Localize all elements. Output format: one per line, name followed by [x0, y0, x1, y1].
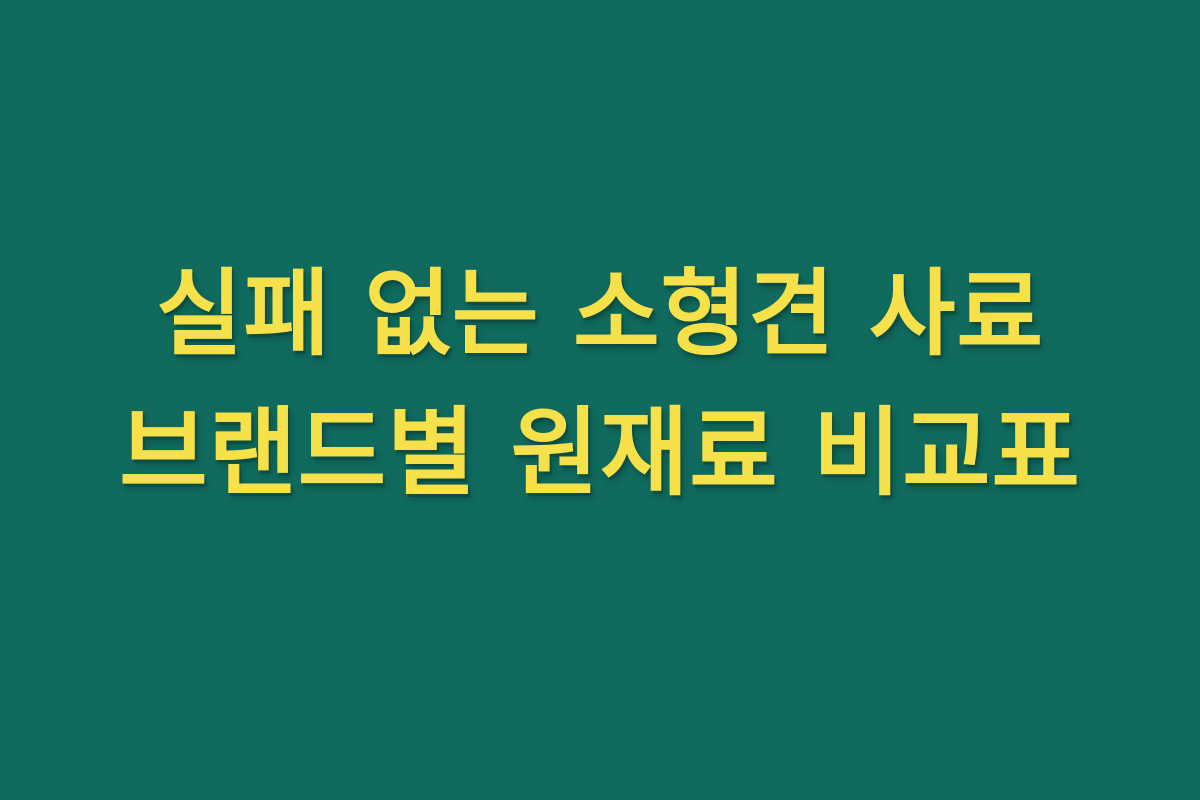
- thumbnail-banner: 실패 없는 소형견 사료 브랜드별 원재료 비교표: [0, 0, 1200, 800]
- headline-line-1: 실패 없는 소형견 사료: [70, 247, 1130, 383]
- headline-line-2: 브랜드별 원재료 비교표: [70, 384, 1130, 523]
- headline-block: 실패 없는 소형견 사료 브랜드별 원재료 비교표: [70, 247, 1130, 522]
